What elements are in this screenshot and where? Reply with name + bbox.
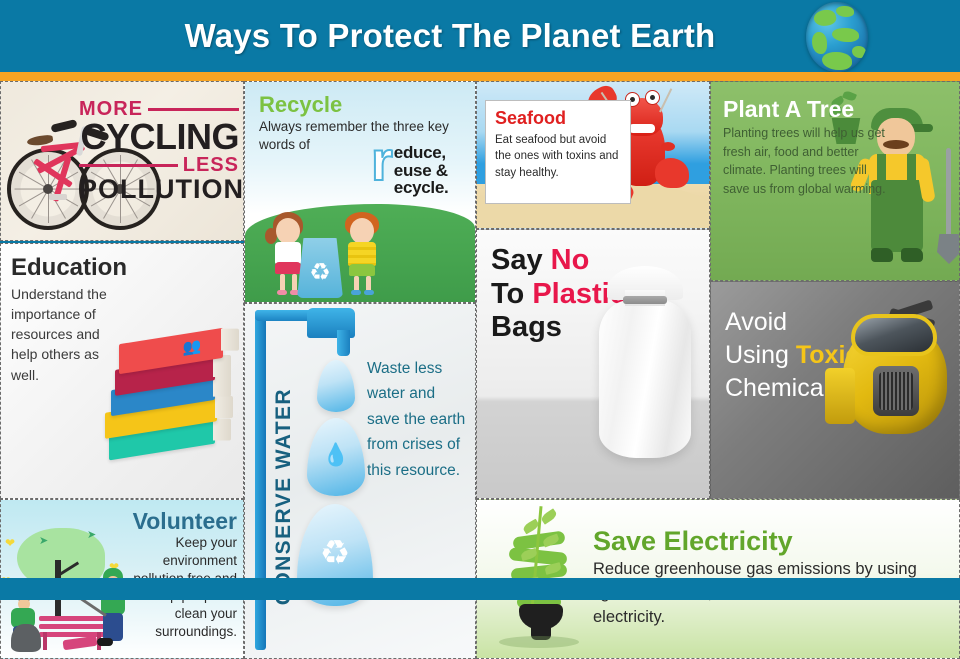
tip-card-education[interactable]: Education Understand the importance of r… <box>0 243 244 499</box>
tip-card-say-no-to-plastic[interactable]: Say No To Plastic Bags <box>476 229 710 499</box>
big-r-letter: r <box>371 140 393 183</box>
faucet-spout-icon <box>337 330 350 356</box>
rrr-word-recycle: ecycle. <box>394 179 449 197</box>
tip-card-cycling[interactable]: MORE CYCLING LESS POLLUTION <box>0 81 244 241</box>
tip-card-plant-a-tree[interactable]: Plant A Tree Planting trees will help us… <box>710 81 960 281</box>
infographic-poster: Ways To Protect The Planet Earth <box>0 0 960 600</box>
shovel-icon <box>946 148 951 240</box>
recycle-symbol-icon: ♻ <box>306 260 334 286</box>
cycling-text-block: MORE CYCLING LESS POLLUTION <box>79 98 239 203</box>
rule-divider <box>148 108 239 111</box>
tips-grid: MORE CYCLING LESS POLLUTION Recycle <box>0 81 960 578</box>
plastic-no-label: No <box>551 244 590 276</box>
gas-mask-icon <box>831 304 957 454</box>
rrr-word-reduce: educe, <box>394 144 449 162</box>
header-accent-bar <box>0 72 960 81</box>
cycling-line-cycling: CYCLING <box>79 119 239 154</box>
toxic-using-label: Using <box>725 341 796 369</box>
tip-card-seafood[interactable]: Seafood Eat seafood but avoid the ones w… <box>476 81 710 229</box>
plastic-bag-icon <box>597 266 693 458</box>
rrr-words: educe, euse & ecycle. <box>394 144 449 197</box>
tip-card-recycle[interactable]: Recycle Always remember the three key wo… <box>244 81 476 303</box>
tree-body: Planting trees will help us get fresh ai… <box>723 124 887 198</box>
cycling-line-pollution: POLLUTION <box>79 176 239 203</box>
rule-divider <box>79 164 178 167</box>
recycle-title: Recycle <box>259 92 342 118</box>
children-recycling-icon <box>335 212 391 298</box>
plastic-to-label: To <box>491 278 532 310</box>
plastic-say-label: Say <box>491 244 551 276</box>
tip-card-conserve-water[interactable]: CONSERVE WATER 💧 ♻ Waste less water and … <box>244 303 476 659</box>
reduce-reuse-recycle-block: r educe, euse & ecycle. <box>371 138 448 197</box>
volunteer-title: Volunteer <box>133 508 237 535</box>
electricity-title: Save Electricity <box>593 526 793 557</box>
stack-of-books-icon: 👥 <box>105 322 244 482</box>
poster-footer-bar <box>0 578 960 600</box>
rrr-word-reuse: euse & <box>394 162 449 180</box>
seafood-text-card: Seafood Eat seafood but avoid the ones w… <box>485 100 631 204</box>
tree-title: Plant A Tree <box>723 96 854 123</box>
education-title: Education <box>11 254 127 282</box>
people-icon: 👥 <box>181 336 203 357</box>
tip-card-avoid-toxic-chemicals[interactable]: Avoid Using Toxic Chemicals <box>710 281 960 499</box>
conserve-water-body: Waste less water and save the earth from… <box>367 356 469 483</box>
seafood-title: Seafood <box>495 109 621 129</box>
conserve-water-label: CONSERVE WATER <box>272 388 296 605</box>
water-drop-icon <box>317 360 355 412</box>
poster-header: Ways To Protect The Planet Earth <box>0 0 960 72</box>
droplet-glyph-icon: 💧 <box>322 442 349 468</box>
water-drop-icon: 💧 <box>307 418 365 496</box>
seafood-body: Eat seafood but avoid the ones with toxi… <box>495 132 621 182</box>
education-body: Understand the importance of resources a… <box>11 284 115 385</box>
globe-icon <box>806 2 868 72</box>
recycle-symbol-icon: ♻ <box>320 533 350 573</box>
